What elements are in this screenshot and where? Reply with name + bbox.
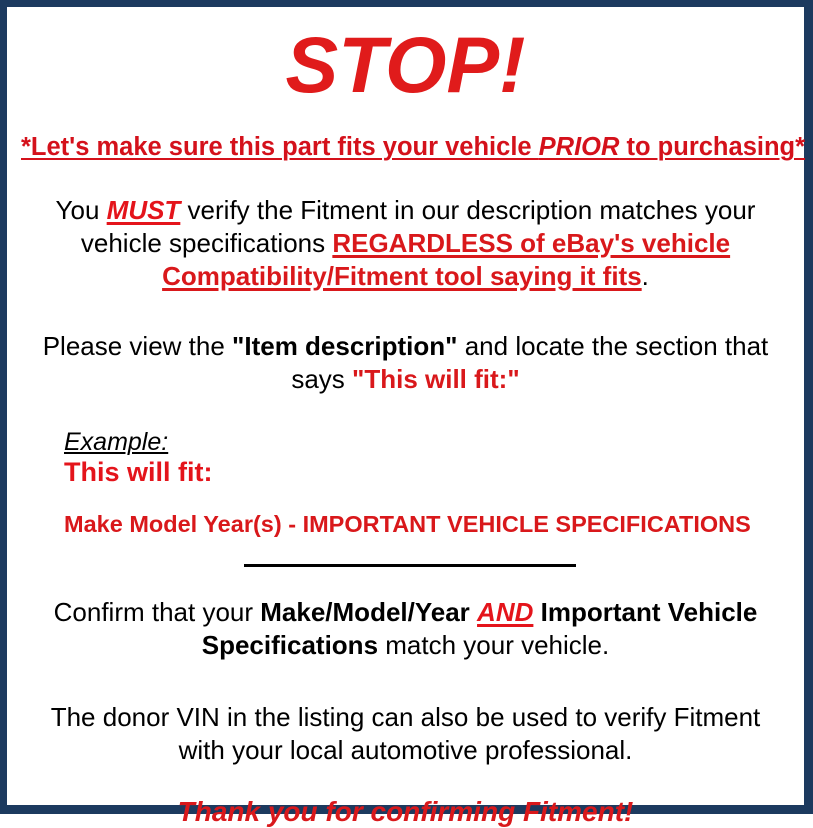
must-paragraph-part-1: You xyxy=(56,195,107,225)
view-paragraph-part-1: Please view the xyxy=(43,331,232,361)
confirm-part-4: match your vehicle. xyxy=(378,630,609,660)
item-description-paragraph: Please view the "Item description" and l… xyxy=(21,330,790,396)
confirm-paragraph: Confirm that your Make/Model/Year AND Im… xyxy=(21,596,790,662)
confirm-part-1: Confirm that your xyxy=(54,597,261,627)
example-block: Example: This will fit: Make Model Year(… xyxy=(21,428,790,538)
confirm-space-1 xyxy=(470,597,477,627)
donor-vin-paragraph: The donor VIN in the listing can also be… xyxy=(21,701,790,767)
must-paragraph-part-3: . xyxy=(642,261,649,291)
page-title: STOP! xyxy=(21,25,790,104)
example-label: Example: xyxy=(64,428,168,456)
fitment-notice-card: STOP! *Let's make sure this part fits yo… xyxy=(0,0,813,814)
emphasis-and: AND xyxy=(477,597,533,627)
subtitle-text-before: *Let's make sure this part fits your veh… xyxy=(21,133,539,161)
subtitle-text-after: to purchasing* xyxy=(619,133,805,161)
divider-container xyxy=(21,564,790,567)
emphasis-must: MUST xyxy=(107,195,181,225)
example-fit-heading: This will fit: xyxy=(64,457,790,487)
subtitle-emphasis-prior: PRIOR xyxy=(539,133,620,161)
subtitle-banner: *Let's make sure this part fits your veh… xyxy=(21,133,790,161)
must-verify-paragraph: You MUST verify the Fitment in our descr… xyxy=(21,194,790,292)
section-divider xyxy=(244,564,576,567)
bold-item-description: "Item description" xyxy=(232,331,457,361)
notice-content: STOP! *Let's make sure this part fits yo… xyxy=(7,25,804,823)
red-this-will-fit: "This will fit:" xyxy=(352,364,520,394)
bold-make-model-year: Make/Model/Year xyxy=(260,597,470,627)
example-specification-line: Make Model Year(s) - IMPORTANT VEHICLE S… xyxy=(64,512,790,538)
thank-you-message: Thank you for confirming Fitment! xyxy=(21,797,790,828)
example-label-row: Example: xyxy=(64,428,790,456)
confirm-space-2 xyxy=(533,597,540,627)
